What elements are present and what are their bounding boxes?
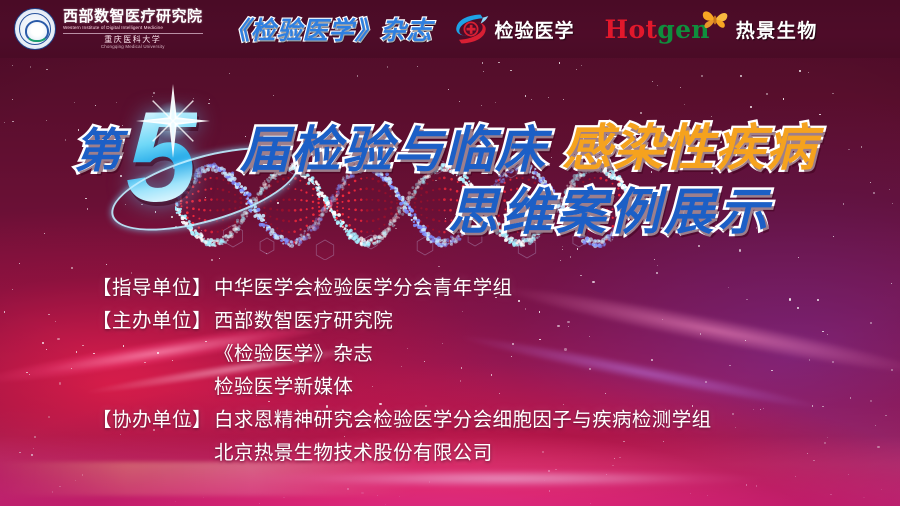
university-seal-icon: [14, 8, 56, 50]
hotgen-cn-name: 热景生物: [736, 16, 818, 43]
organizer-label: 【主办单位】: [92, 305, 214, 338]
conference-poster: 西部数智医疗研究院 Western Institute of Digital I…: [0, 0, 900, 506]
organizer-value: 白求恩精神研究会检验医学分会细胞因子与疾病检测学组: [214, 404, 712, 437]
organizer-row: 【指导单位】中华医学会检验医学分会青年学组: [92, 272, 712, 305]
swoosh-medical-cross-icon: [453, 12, 489, 46]
organizer-label: 【指导单位】: [92, 272, 214, 305]
organizer-list: 【指导单位】中华医学会检验医学分会青年学组【主办单位】西部数智医疗研究院《检验医…: [92, 272, 712, 470]
hotgen-logo[interactable]: Hotgen 热景生物: [605, 15, 818, 44]
organizer-value: 北京热景生物技术股份有限公司: [214, 437, 493, 470]
title-line1-orange: 感染性疾病: [562, 108, 817, 180]
title-line2-blue: 思维案例展示: [448, 172, 772, 244]
organizer-value: 西部数智医疗研究院: [214, 305, 393, 338]
labmed-cn-name: 检验医学: [495, 16, 575, 43]
organizer-label: 【协办单位】: [92, 404, 214, 437]
organizer-row: 【协办单位】白求恩精神研究会检验医学分会细胞因子与疾病检测学组: [92, 404, 712, 437]
organizer-row: 北京热景生物技术股份有限公司: [92, 437, 712, 470]
organizer-row: 检验医学新媒体: [92, 371, 712, 404]
cqmu-cn-name: 重庆医科大学: [63, 36, 203, 44]
organizer-value: 《检验医学》杂志: [214, 338, 373, 371]
organizer-value: 检验医学新媒体: [214, 371, 353, 404]
labmed-logo[interactable]: 检验医学: [453, 12, 575, 46]
hotgen-word-part1: Hot: [605, 15, 658, 44]
western-institute-logo[interactable]: 西部数智医疗研究院 Western Institute of Digital I…: [0, 8, 203, 50]
journal-logo[interactable]: 《检验医学》杂志: [225, 11, 433, 47]
hotgen-wordmark: Hotgen: [605, 15, 710, 44]
organizer-row: 【主办单位】西部数智医疗研究院: [92, 305, 712, 338]
cqmu-en-name: Chongqing Medical University: [63, 45, 203, 49]
title-prefix: 第: [74, 112, 121, 181]
organizer-row: 《检验医学》杂志: [92, 338, 712, 371]
butterfly-icon: [700, 7, 730, 33]
western-institute-cn-name: 西部数智医疗研究院: [63, 9, 203, 24]
western-institute-en-name: Western Institute of Digital Intelligent…: [63, 26, 203, 34]
edition-number-group: 5: [118, 88, 248, 238]
header-logo-bar: 西部数智医疗研究院 Western Institute of Digital I…: [0, 0, 900, 58]
sparkle-star-icon: [136, 84, 210, 158]
organizer-value: 中华医学会检验医学分会青年学组: [214, 272, 513, 305]
